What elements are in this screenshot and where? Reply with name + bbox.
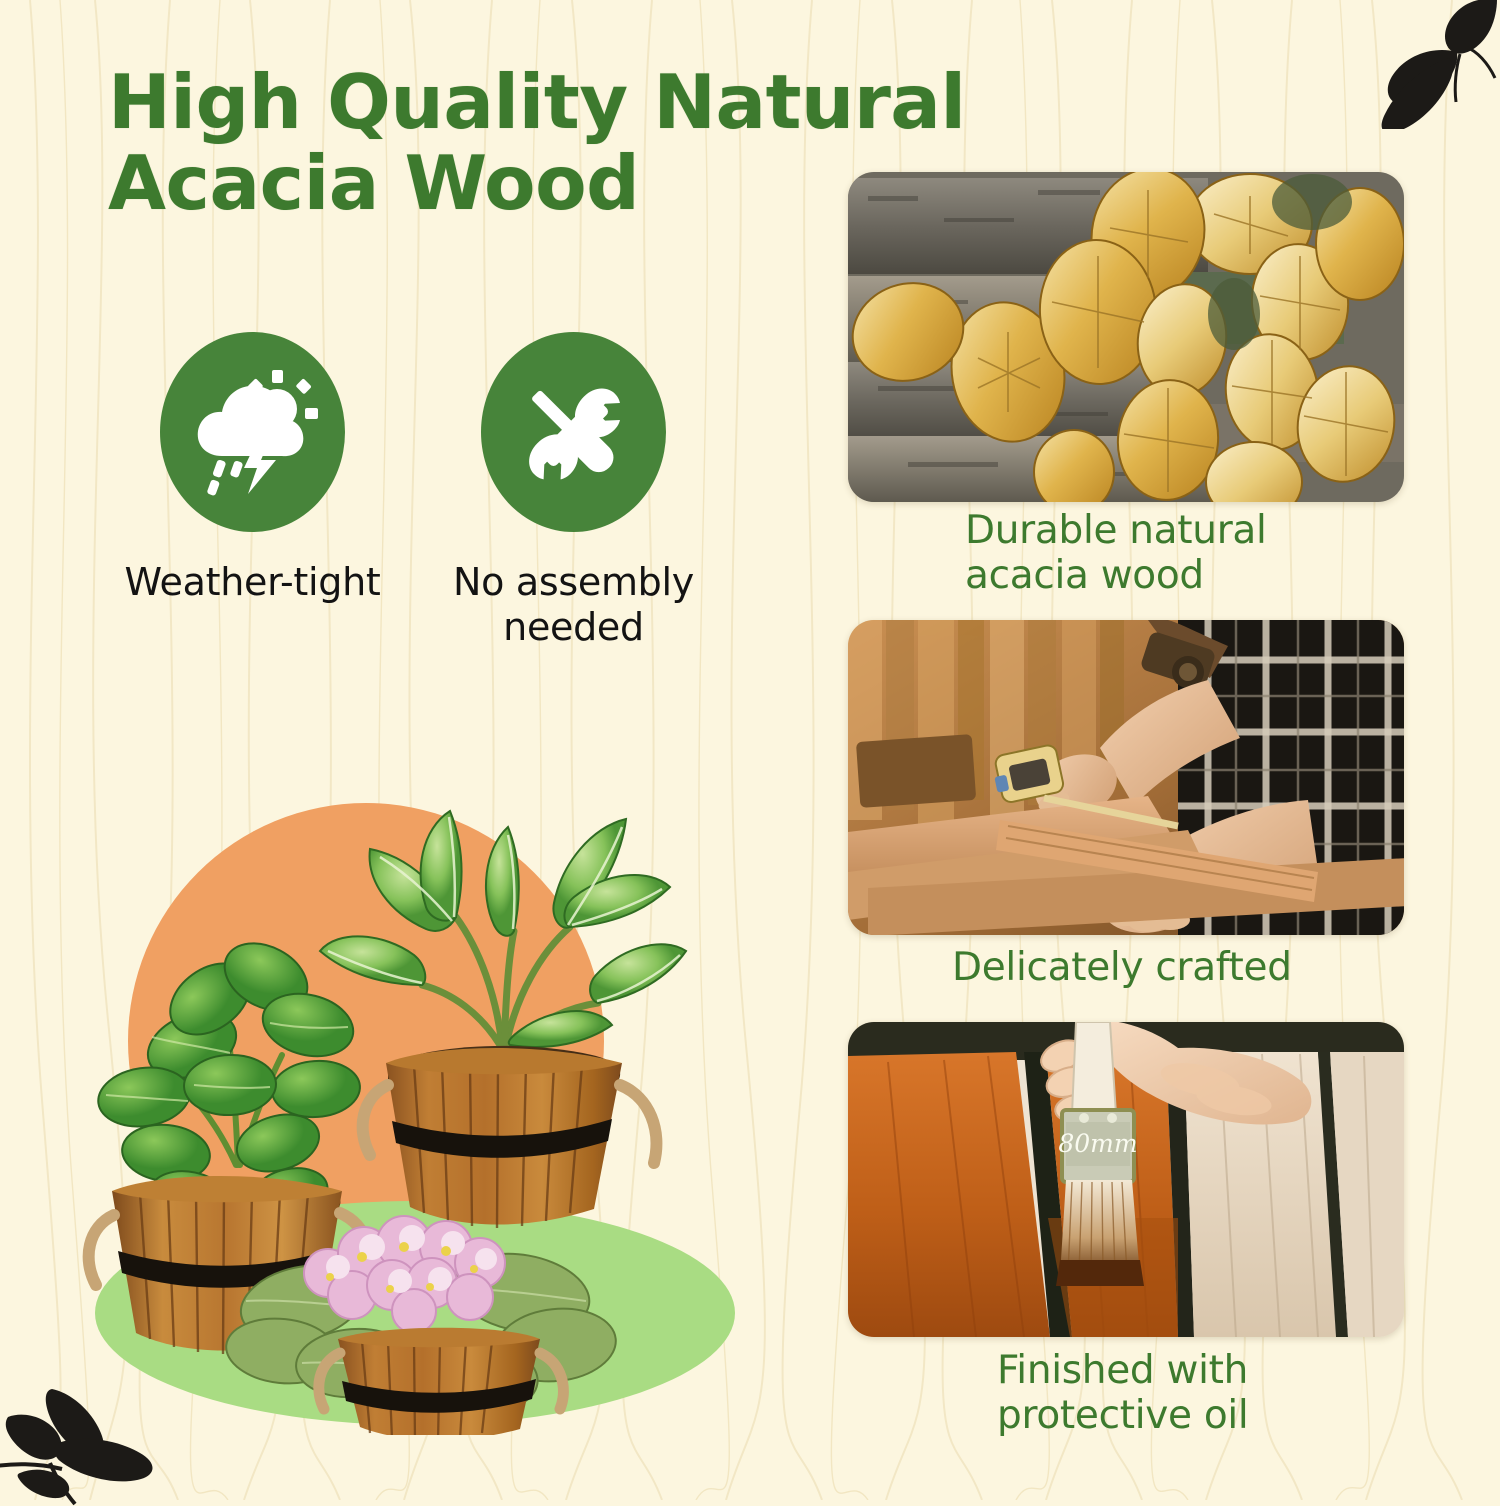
photo-caption: Delicately crafted <box>952 945 1412 990</box>
hero-product-image <box>70 745 770 1435</box>
wrench-screwdriver-icon <box>512 370 636 494</box>
storm-cloud-sun-icon <box>188 368 318 496</box>
photo-caption: Durable natural acacia wood <box>965 508 1395 598</box>
feature-badge-list: Weather-tight <box>120 332 706 650</box>
feature-badge-circle <box>160 332 345 532</box>
feature-label: Weather-tight <box>125 560 381 605</box>
brush-size-label: 80mm <box>1058 1129 1137 1158</box>
photo-carpenter-measuring <box>848 620 1404 935</box>
photo-oil-brush: 80mm <box>848 1022 1404 1337</box>
feature-badge-circle <box>481 332 666 532</box>
page-title-line-1: High Quality Natural <box>108 58 966 146</box>
photo-stacked-logs <box>848 172 1404 502</box>
feature-weather-tight: Weather-tight <box>120 332 385 650</box>
feature-no-assembly: No assembly needed <box>441 332 706 650</box>
leaf-sprig-bottom-left-icon <box>0 1371 180 1506</box>
feature-label: No assembly needed <box>441 560 706 650</box>
leaf-sprig-top-right-icon <box>1329 0 1500 129</box>
photo-caption: Finished with protective oil <box>997 1348 1427 1438</box>
